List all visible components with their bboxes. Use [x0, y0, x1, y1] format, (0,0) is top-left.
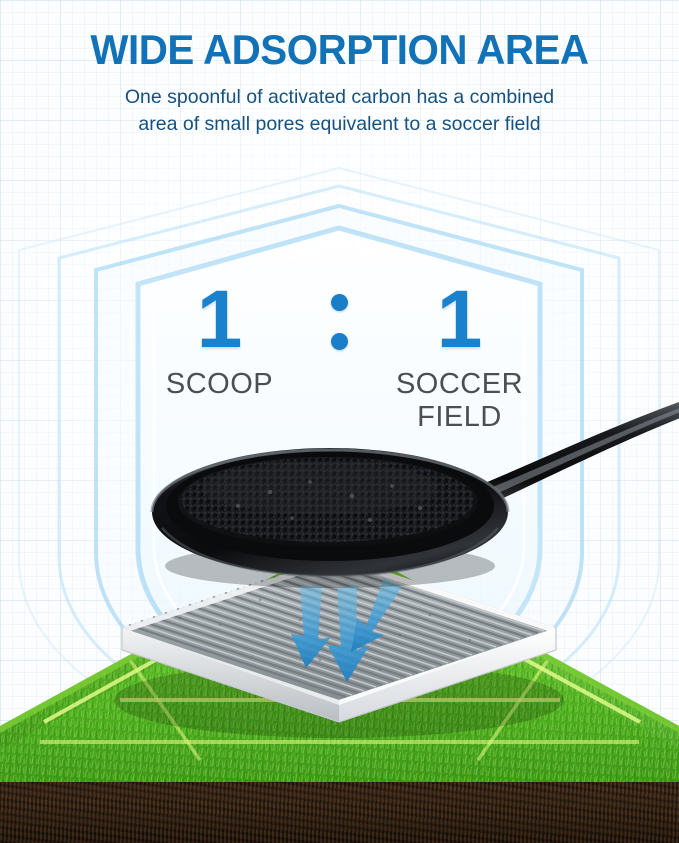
subtitle-line-1: One spoonful of activated carbon has a c… [50, 84, 630, 111]
header: WIDE ADSORPTION AREA One spoonful of act… [0, 0, 679, 138]
page-title: WIDE ADSORPTION AREA [14, 0, 666, 74]
ratio-left-value: 1 [135, 278, 305, 362]
ratio-left: 1 SCOOP [135, 278, 305, 401]
ratio-right: 1 SOCCER FIELD [375, 278, 545, 434]
ratio-block: 1 SCOOP 1 SOCCER FIELD [0, 278, 679, 434]
infographic-root: WIDE ADSORPTION AREA One spoonful of act… [0, 0, 679, 843]
ratio-right-value: 1 [375, 278, 545, 362]
soil-top-shadow [0, 775, 679, 783]
colon-dot-bottom [331, 333, 348, 350]
colon-dot-top [331, 294, 348, 311]
ratio-left-label: SCOOP [135, 368, 305, 401]
page-subtitle: One spoonful of activated carbon has a c… [50, 84, 630, 138]
subtitle-line-2: area of small pores equivalent to a socc… [50, 111, 630, 138]
soil-layer [0, 775, 679, 843]
ratio-right-label: SOCCER FIELD [375, 368, 545, 434]
ratio-separator-icon [305, 278, 375, 350]
